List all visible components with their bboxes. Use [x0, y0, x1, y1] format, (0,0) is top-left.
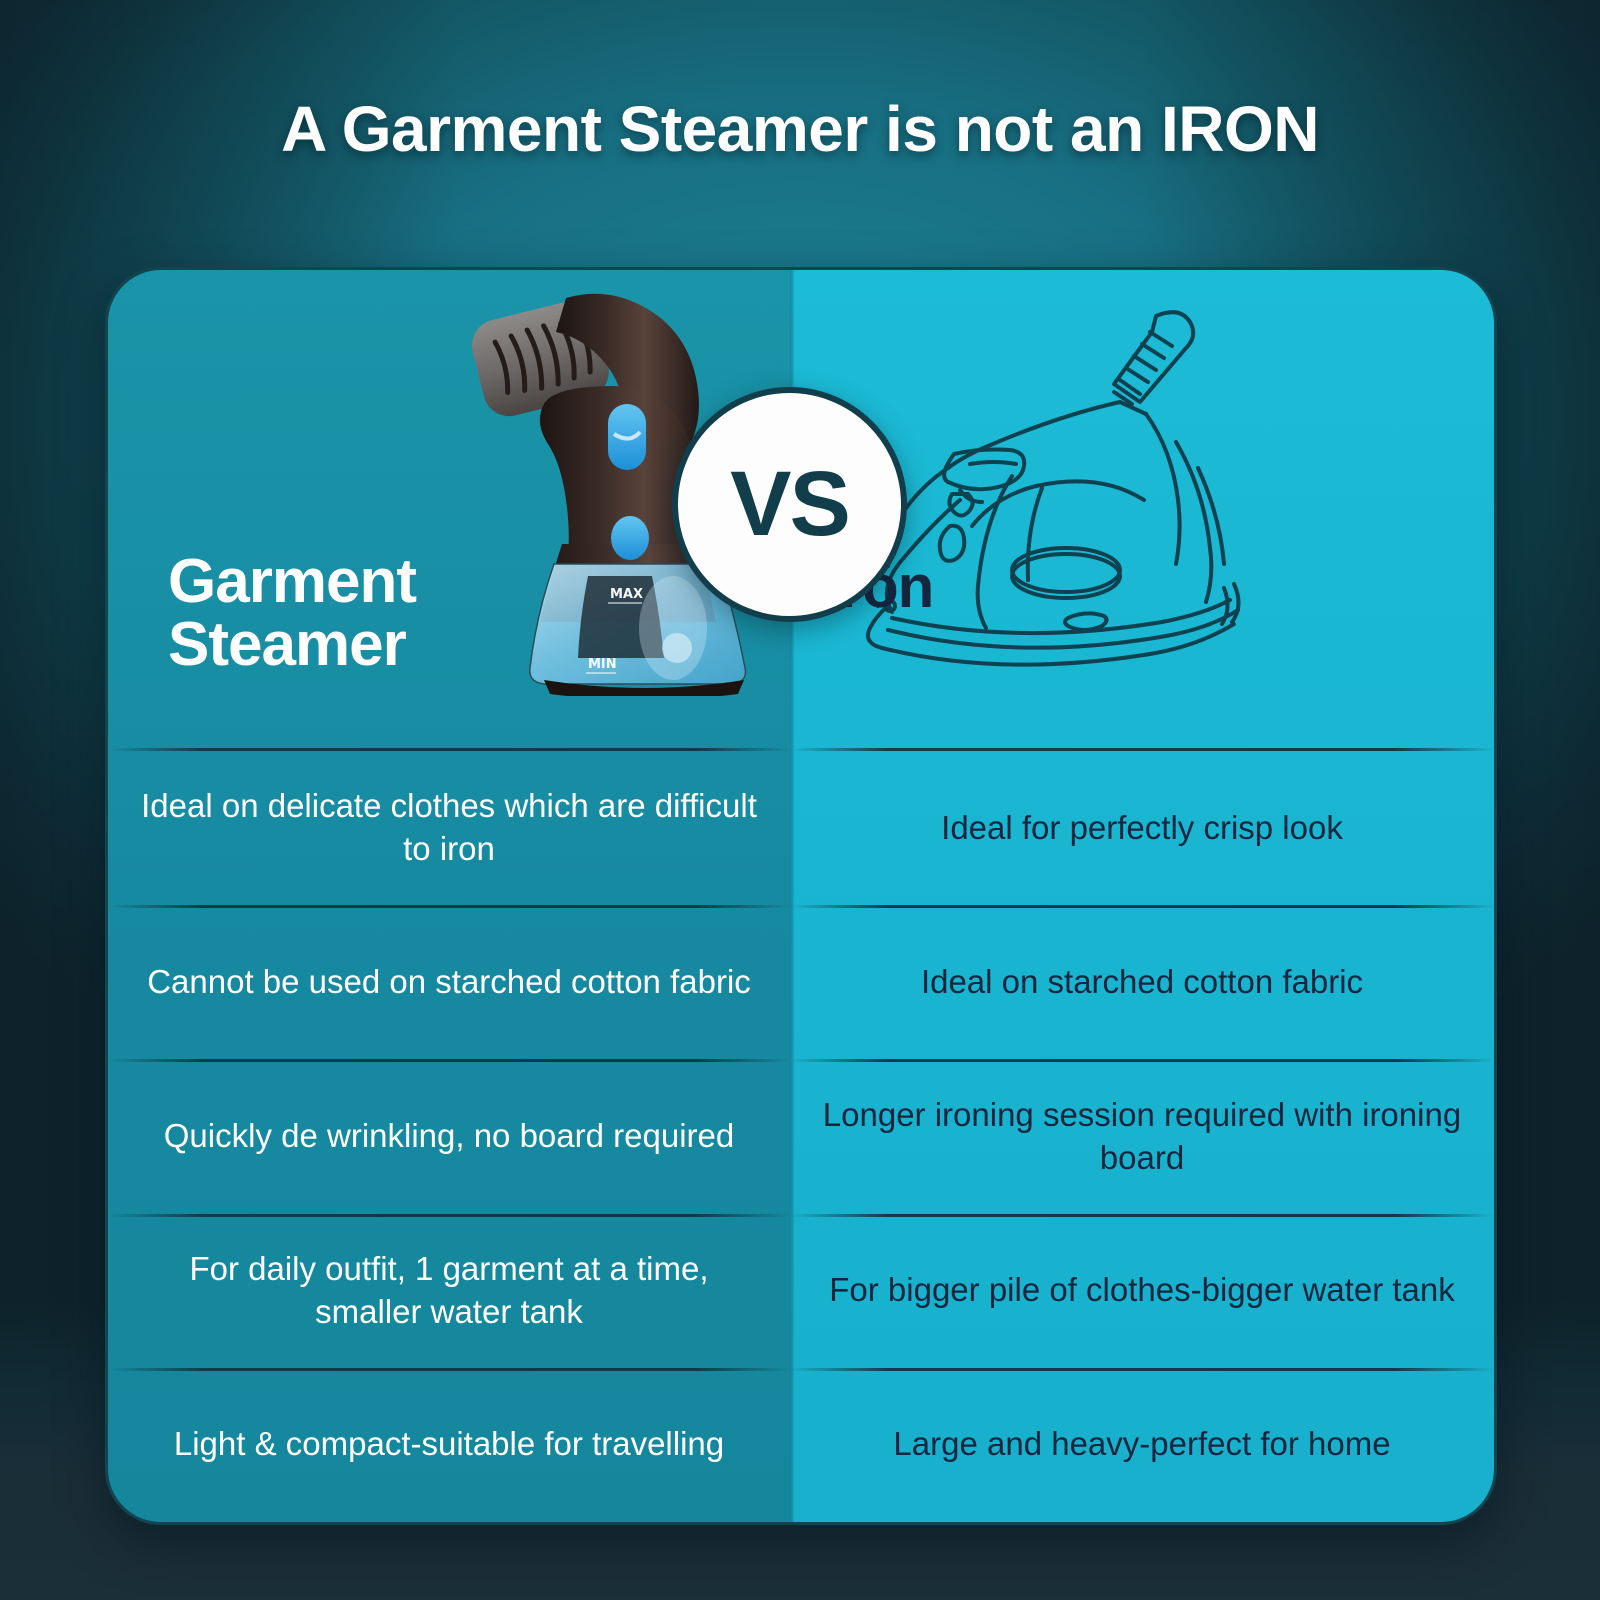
feature-row: Ideal on starched cotton fabric [790, 905, 1494, 1059]
iron-feature-list: Ideal for perfectly crisp look Ideal on … [790, 751, 1494, 1522]
feature-row: Large and heavy-perfect for home [790, 1368, 1494, 1522]
product-name-garment-steamer: Garment Steamer [168, 550, 416, 676]
feature-row: Light & compact-suitable for travelling [108, 1368, 790, 1522]
feature-row: Quickly de wrinkling, no board required [108, 1059, 790, 1213]
feature-row: Ideal for perfectly crisp look [790, 751, 1494, 905]
vs-badge: VS [672, 387, 907, 622]
feature-row: For daily outfit, 1 garment at a time, s… [108, 1214, 790, 1368]
page-title: A Garment Steamer is not an IRON [0, 92, 1600, 166]
feature-row: Cannot be used on starched cotton fabric [108, 905, 790, 1059]
feature-row: Longer ironing session required with iro… [790, 1059, 1494, 1213]
vs-badge-label: VS [730, 452, 849, 557]
product-name-line-1: Garment [168, 550, 416, 613]
feature-row: Ideal on delicate clothes which are diff… [108, 751, 790, 905]
feature-row: For bigger pile of clothes-bigger water … [790, 1214, 1494, 1368]
svg-text:MIN: MIN [588, 657, 617, 672]
svg-text:MAX: MAX [610, 587, 643, 602]
product-name-line-2: Steamer [168, 613, 416, 676]
garment-steamer-feature-list: Ideal on delicate clothes which are diff… [108, 751, 790, 1522]
